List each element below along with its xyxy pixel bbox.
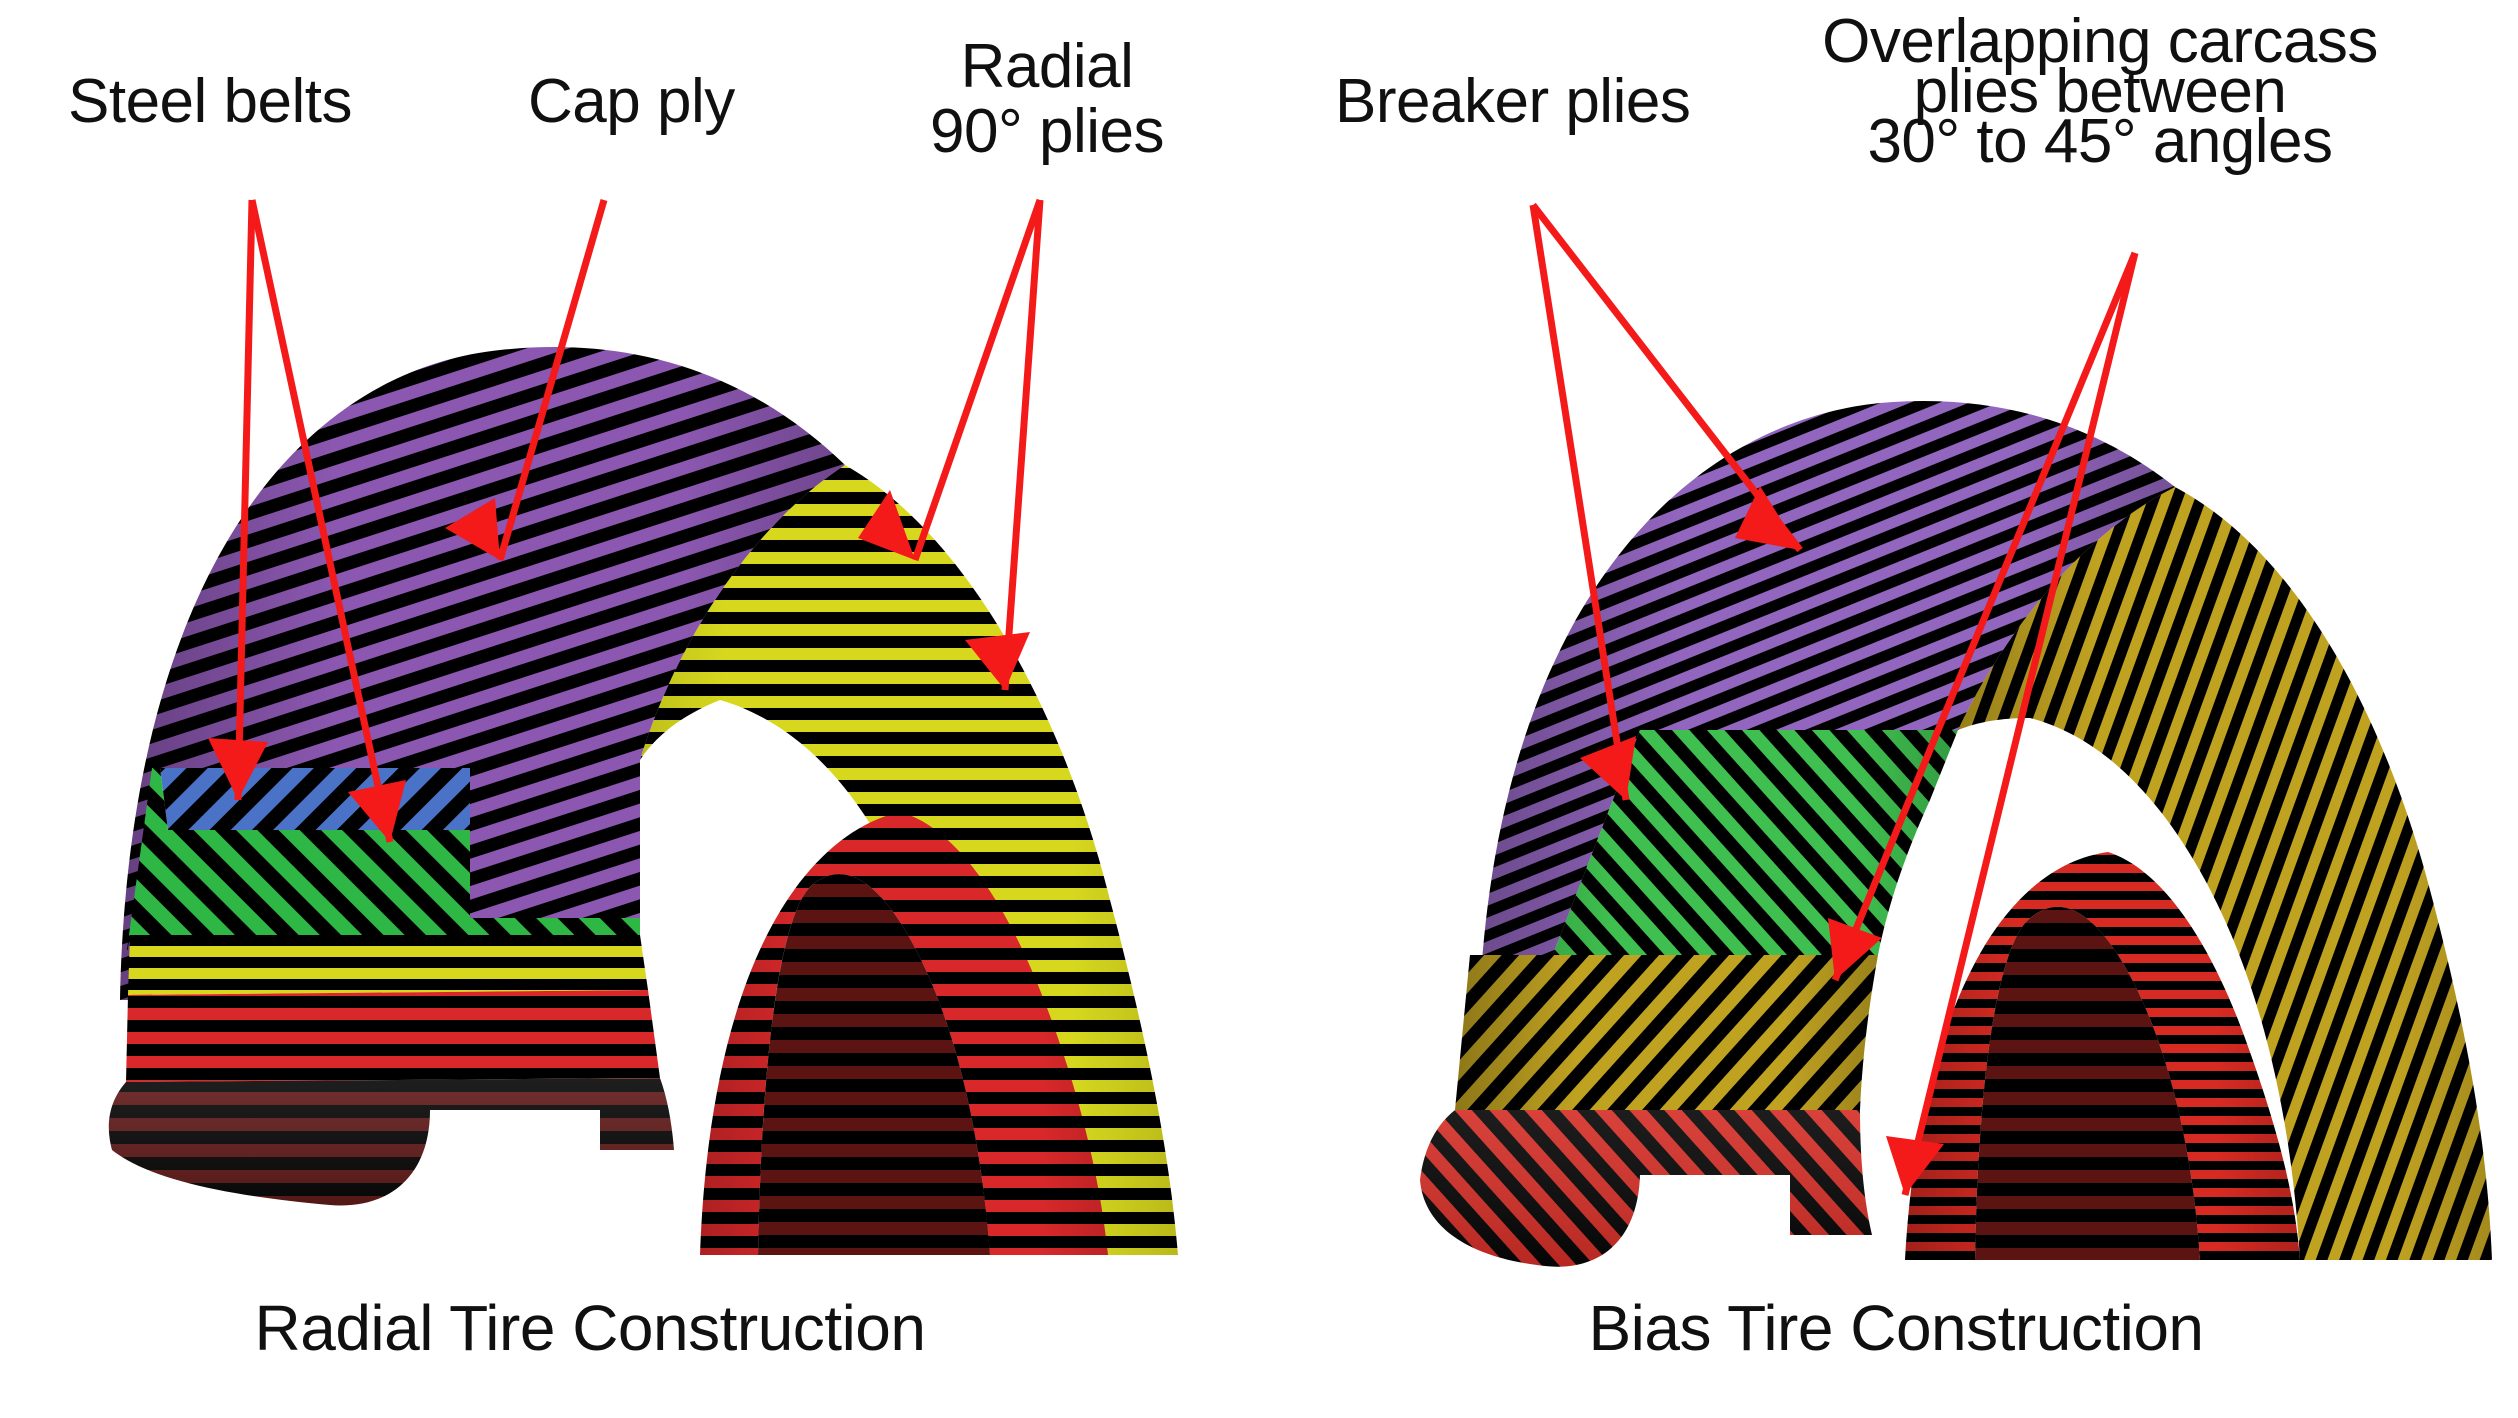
label-carcass-plies-line3: 30° to 45° angles bbox=[1867, 107, 2332, 176]
panel-captions-group: Radial Tire Construction Bias Tire Const… bbox=[255, 1292, 2204, 1364]
sidewall-band-darkred bbox=[100, 1070, 690, 1230]
label-radial-plies-line2: 90° plies bbox=[930, 97, 1164, 166]
caption-radial-tire: Radial Tire Construction bbox=[255, 1292, 926, 1364]
caption-bias-tire: Bias Tire Construction bbox=[1588, 1292, 2203, 1364]
leader-line-radial-plies-b bbox=[1005, 200, 1040, 690]
label-breaker-plies: Breaker plies bbox=[1335, 67, 1690, 136]
label-steel-belts: Steel belts bbox=[68, 67, 352, 136]
label-radial-plies-line1: Radial bbox=[961, 32, 1134, 101]
tire-construction-diagram: Steel belts Cap ply Radial 90° plies Bre… bbox=[0, 0, 2518, 1418]
radial-tire-illustration bbox=[100, 300, 1260, 1300]
carcass-sidewall-red-layer bbox=[1400, 1090, 1900, 1290]
figure-root: Steel belts Cap ply Radial 90° plies Bre… bbox=[0, 0, 2518, 1418]
bias-tire-illustration bbox=[1400, 380, 2518, 1290]
annotation-labels-group: Steel belts Cap ply Radial 90° plies Bre… bbox=[68, 7, 2378, 176]
carcass-ply-body-layer bbox=[1440, 940, 1900, 1130]
label-cap-ply: Cap ply bbox=[528, 67, 735, 136]
